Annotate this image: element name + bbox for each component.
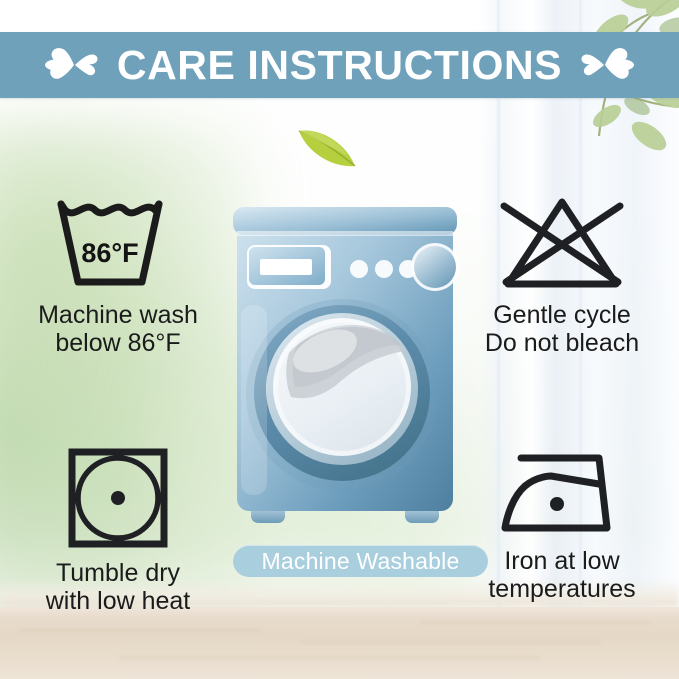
wash-temperature-value: 86°F — [51, 238, 169, 269]
care-label-gentle-cycle: Gentle cycle Do not bleach — [485, 301, 639, 357]
tumble-dry-low-heat-icon — [66, 446, 170, 550]
iron-low-temperature-icon — [495, 446, 629, 538]
fleur-de-lis-icon-right — [580, 45, 634, 85]
care-item-gentle-cycle: Gentle cycle Do not bleach — [452, 196, 672, 357]
header-banner: CARE INSTRUCTIONS — [0, 32, 679, 98]
wood-surface — [0, 607, 679, 679]
fleur-de-lis-icon — [45, 45, 99, 85]
washing-machine-illustration — [229, 205, 461, 535]
care-label-machine-wash: Machine wash below 86°F — [38, 301, 198, 357]
care-item-machine-wash: 86°F Machine wash below 86°F — [8, 196, 228, 357]
care-item-tumble-dry: Tumble dry with low heat — [8, 446, 228, 615]
care-item-iron: Iron at low temperatures — [452, 446, 672, 603]
care-label-tumble-dry: Tumble dry with low heat — [46, 559, 191, 615]
machine-washable-badge-label: Machine Washable — [262, 550, 460, 573]
green-leaf-icon — [296, 126, 358, 170]
care-instructions-infographic: CARE INSTRUCTIONS 86°F Machine wash belo… — [0, 0, 679, 679]
machine-washable-badge: Machine Washable — [233, 545, 488, 577]
wash-tub-icon-wrap: 86°F — [51, 196, 185, 292]
do-not-bleach-triangle-icon — [488, 196, 636, 292]
care-label-iron: Iron at low temperatures — [488, 547, 635, 603]
page-title: CARE INSTRUCTIONS — [117, 45, 562, 86]
